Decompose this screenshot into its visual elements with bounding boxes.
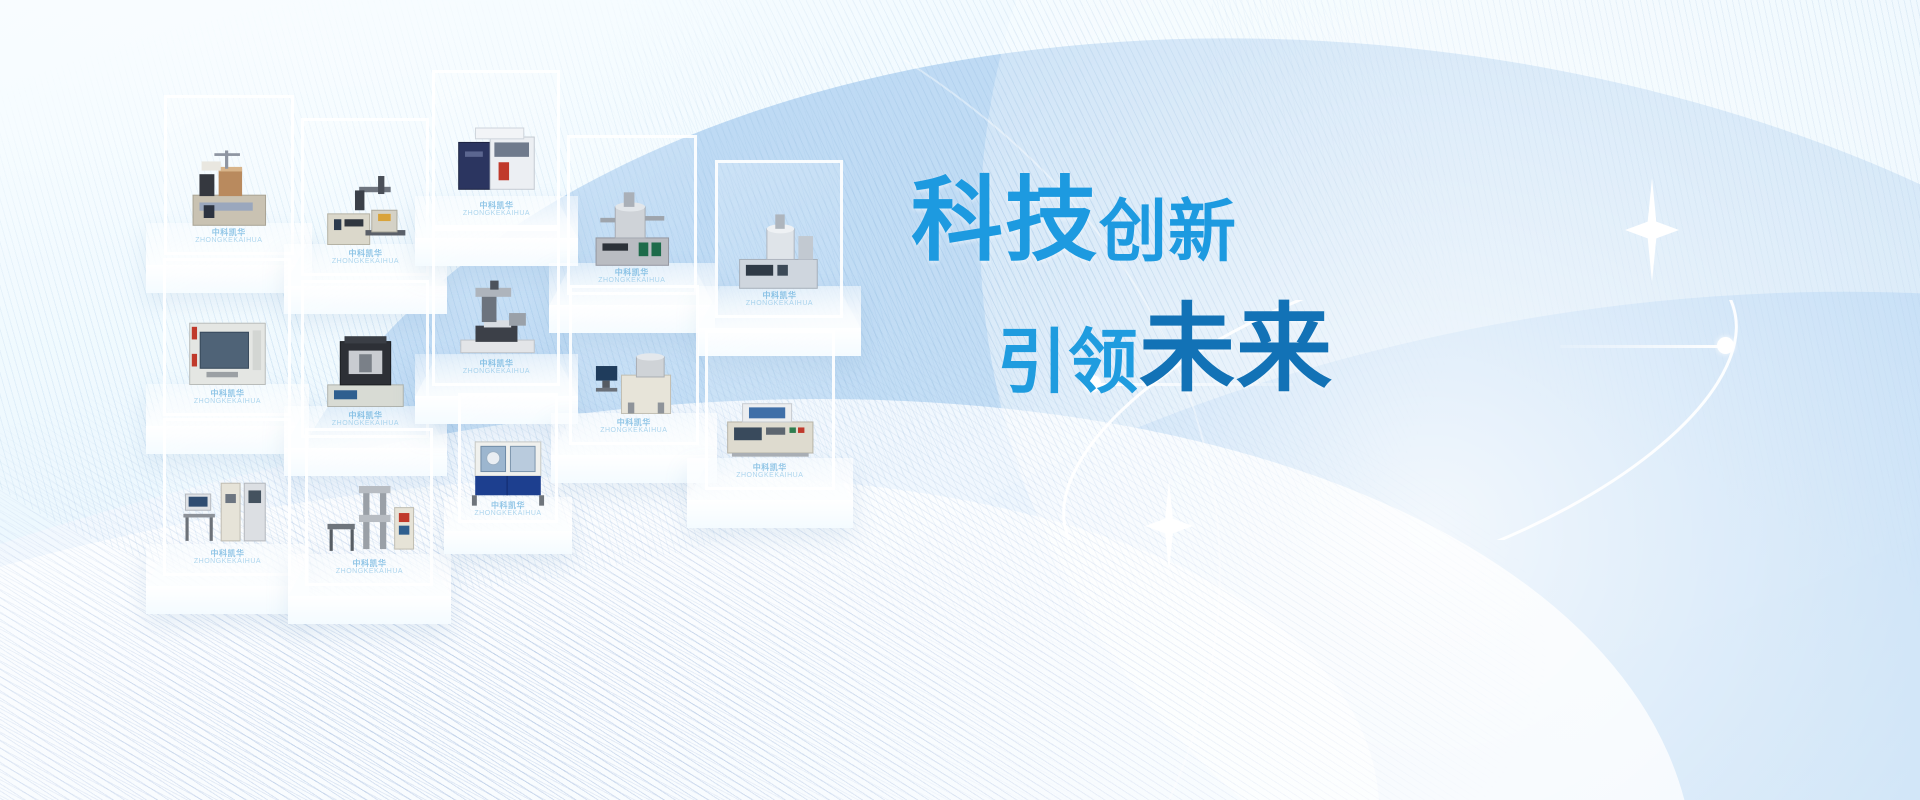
product-machine-illustration bbox=[317, 477, 422, 567]
watermark-pinyin: ZHONGKEKAIHUA bbox=[332, 258, 399, 265]
watermark-pinyin: ZHONGKEKAIHUA bbox=[194, 558, 261, 565]
product-photo bbox=[705, 349, 835, 471]
headline-line1-lead: 科技 bbox=[911, 167, 1099, 274]
watermark-brand: 中科凯华 bbox=[567, 268, 697, 277]
product-tile[interactable]: 中科凯华ZHONGKEKAIHUA bbox=[684, 330, 856, 578]
watermark-pinyin: ZHONGKEKAIHUA bbox=[463, 210, 530, 217]
watermark-brand: 中科凯华 bbox=[705, 463, 835, 472]
orbit-connector-right bbox=[1560, 345, 1725, 348]
product-photo bbox=[305, 447, 433, 567]
watermark-brand: 中科凯华 bbox=[164, 228, 294, 237]
product-machine-illustration bbox=[444, 277, 549, 367]
product-watermark: 中科凯华ZHONGKEKAIHUA bbox=[569, 418, 699, 435]
product-watermark: 中科凯华ZHONGKEKAIHUA bbox=[163, 549, 291, 566]
watermark-brand: 中科凯华 bbox=[432, 359, 560, 368]
watermark-pinyin: ZHONGKEKAIHUA bbox=[736, 472, 803, 479]
headline-block: 科技创新 引领未来 bbox=[905, 175, 1525, 397]
product-machine-illustration bbox=[579, 185, 686, 276]
watermark-brand: 中科凯华 bbox=[458, 501, 558, 510]
headline-line1-tail: 创新 bbox=[1099, 193, 1237, 272]
pedestal-front-face bbox=[288, 596, 452, 624]
product-tile[interactable]: 中科凯华ZHONGKEKAIHUA bbox=[285, 428, 454, 673]
product-watermark: 中科凯华ZHONGKEKAIHUA bbox=[301, 411, 429, 428]
product-photo bbox=[164, 114, 294, 236]
hero-banner: 中科凯华ZHONGKEKAIHUA 中科凯华ZHONGKEKAIHUA bbox=[0, 0, 1920, 800]
watermark-brand: 中科凯华 bbox=[715, 291, 843, 300]
watermark-pinyin: ZHONGKEKAIHUA bbox=[195, 237, 262, 244]
headline-line-2: 引领未来 bbox=[997, 301, 1525, 397]
watermark-brand: 中科凯华 bbox=[163, 389, 291, 398]
headline-line2-tail: 未来 bbox=[1139, 293, 1333, 405]
watermark-pinyin: ZHONGKEKAIHUA bbox=[194, 398, 261, 405]
product-photo bbox=[432, 247, 560, 367]
product-photo bbox=[163, 437, 291, 557]
product-machine-illustration bbox=[313, 167, 418, 257]
product-machine-illustration bbox=[467, 433, 549, 507]
watermark-brand: 中科凯华 bbox=[301, 411, 429, 420]
product-watermark: 中科凯华ZHONGKEKAIHUA bbox=[164, 228, 294, 245]
product-watermark: 中科凯华ZHONGKEKAIHUA bbox=[715, 291, 843, 308]
product-photo bbox=[458, 409, 558, 508]
product-watermark: 中科凯华ZHONGKEKAIHUA bbox=[163, 389, 291, 406]
watermark-brand: 中科凯华 bbox=[432, 201, 560, 210]
watermark-pinyin: ZHONGKEKAIHUA bbox=[463, 368, 530, 375]
product-photo bbox=[567, 154, 697, 276]
watermark-brand: 中科凯华 bbox=[569, 418, 699, 427]
product-watermark: 中科凯华ZHONGKEKAIHUA bbox=[301, 249, 429, 266]
product-watermark: 中科凯华ZHONGKEKAIHUA bbox=[432, 201, 560, 218]
watermark-pinyin: ZHONGKEKAIHUA bbox=[746, 300, 813, 307]
product-machine-illustration bbox=[717, 380, 824, 471]
product-machine-illustration bbox=[727, 209, 832, 299]
product-tile[interactable]: 中科凯华ZHONGKEKAIHUA bbox=[442, 393, 574, 595]
product-machine-illustration bbox=[176, 145, 283, 236]
pedestal-front-face bbox=[687, 500, 853, 528]
watermark-pinyin: ZHONGKEKAIHUA bbox=[598, 277, 665, 284]
product-machine-illustration bbox=[444, 119, 549, 209]
watermark-pinyin: ZHONGKEKAIHUA bbox=[474, 510, 541, 517]
product-photo bbox=[301, 137, 429, 257]
product-photo bbox=[163, 277, 291, 397]
product-watermark: 中科凯华ZHONGKEKAIHUA bbox=[705, 463, 835, 480]
product-machine-illustration bbox=[175, 307, 280, 397]
watermark-brand: 中科凯华 bbox=[163, 549, 291, 558]
product-watermark: 中科凯华ZHONGKEKAIHUA bbox=[432, 359, 560, 376]
product-machine-illustration bbox=[175, 467, 280, 557]
product-photo bbox=[569, 304, 699, 426]
product-photo bbox=[432, 89, 560, 209]
watermark-pinyin: ZHONGKEKAIHUA bbox=[332, 420, 399, 427]
product-machine-illustration bbox=[581, 335, 688, 426]
watermark-pinyin: ZHONGKEKAIHUA bbox=[336, 568, 403, 575]
headline-line-1: 科技创新 bbox=[911, 175, 1525, 267]
watermark-brand: 中科凯华 bbox=[301, 249, 429, 258]
product-watermark: 中科凯华ZHONGKEKAIHUA bbox=[567, 268, 697, 285]
watermark-brand: 中科凯华 bbox=[305, 559, 433, 568]
orbit-node-dot-right bbox=[1717, 337, 1734, 354]
product-watermark: 中科凯华ZHONGKEKAIHUA bbox=[305, 559, 433, 576]
product-watermark: 中科凯华ZHONGKEKAIHUA bbox=[458, 501, 558, 518]
product-photo bbox=[301, 299, 429, 419]
pedestal-front-face bbox=[444, 531, 572, 554]
watermark-pinyin: ZHONGKEKAIHUA bbox=[600, 427, 667, 434]
product-photo bbox=[715, 179, 843, 299]
headline-line2-lead: 引领 bbox=[997, 321, 1139, 403]
product-machine-illustration bbox=[313, 329, 418, 419]
